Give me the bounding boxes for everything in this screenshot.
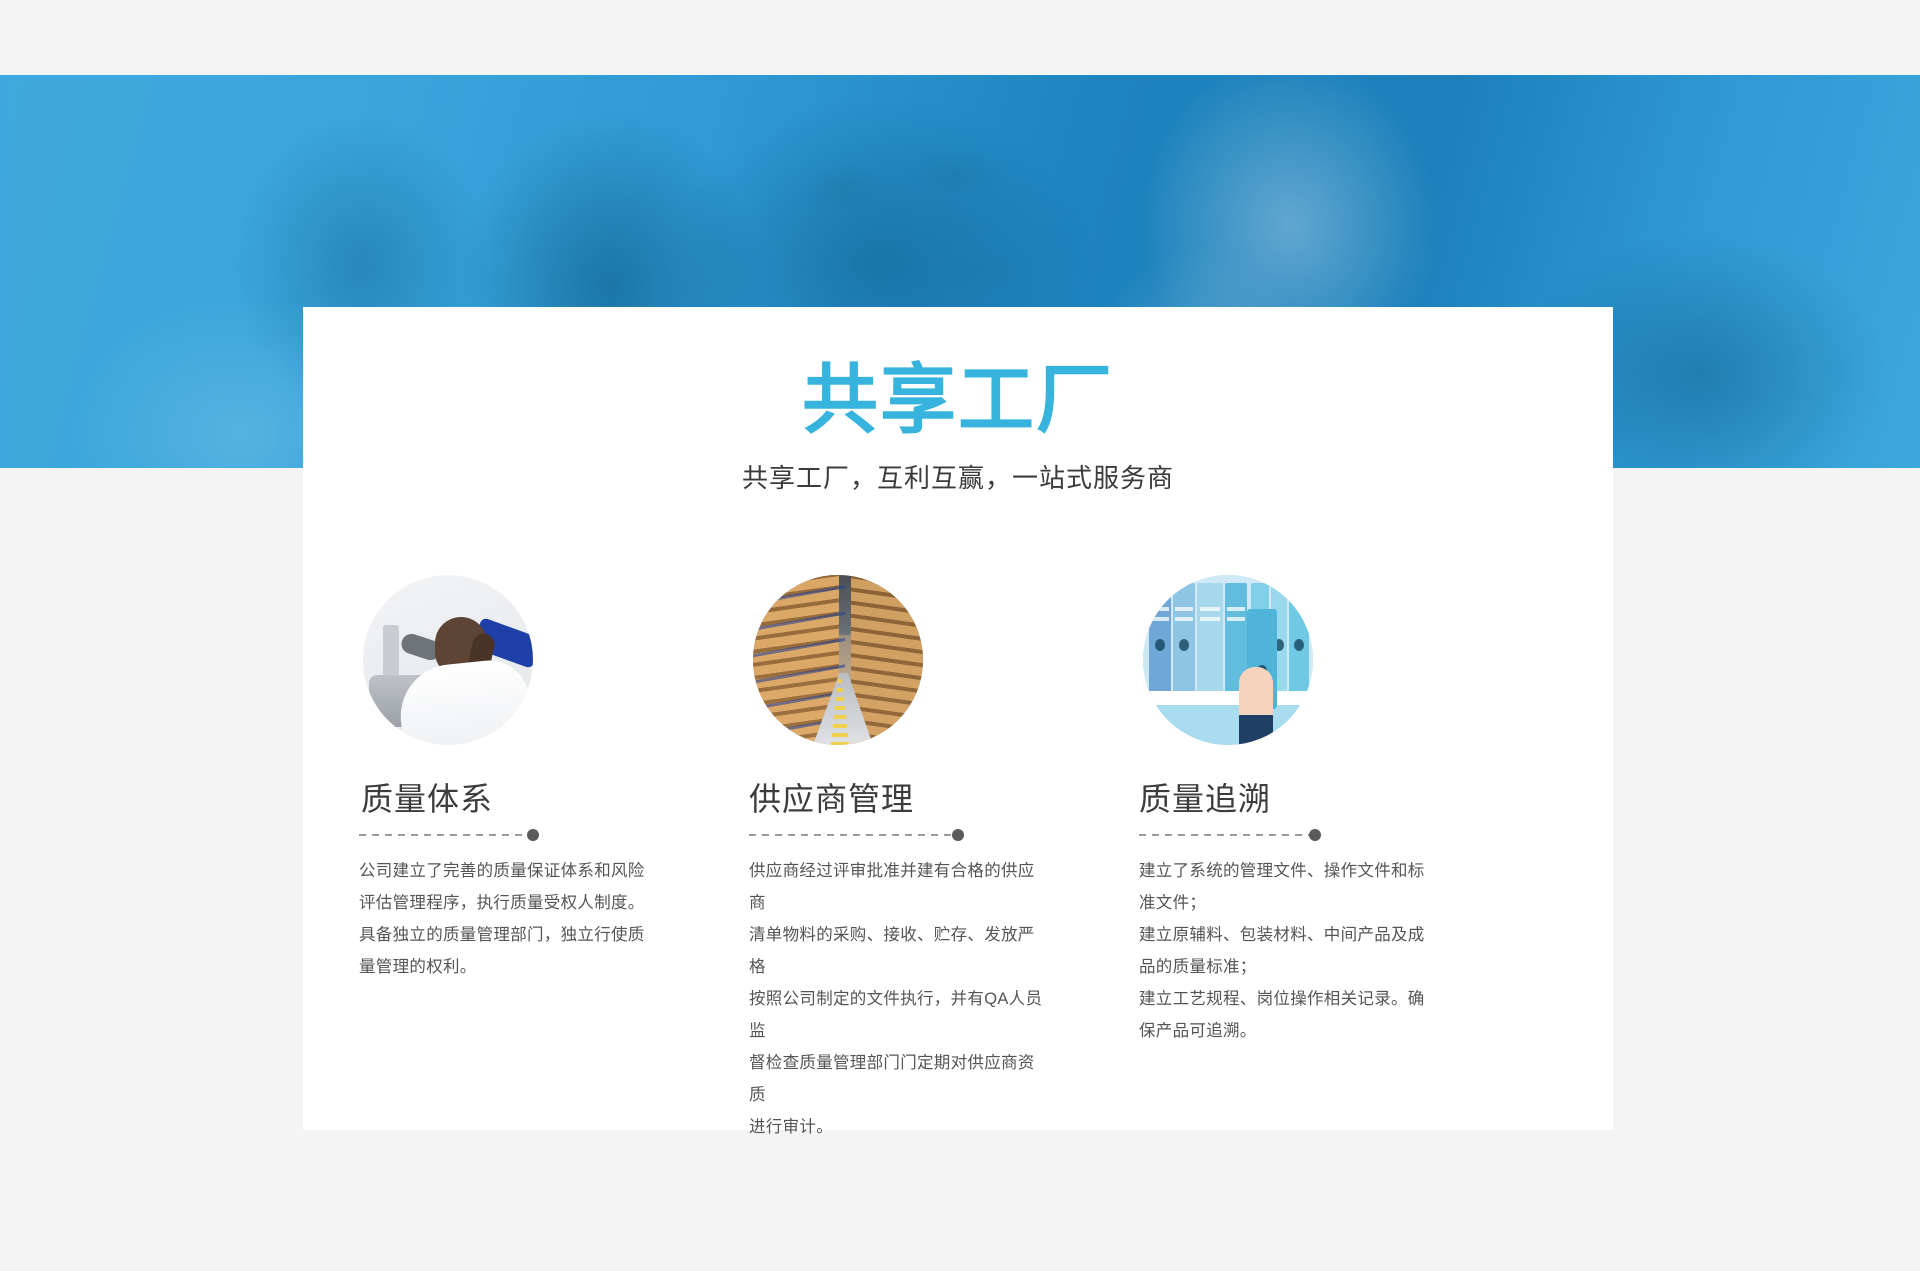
binder-band	[1151, 617, 1169, 621]
end-dot-icon	[1309, 829, 1321, 841]
feature-title: 质量体系	[359, 745, 689, 819]
page-title: 共享工厂	[303, 307, 1613, 443]
title-underline	[359, 829, 689, 841]
title-underline	[1139, 829, 1469, 841]
lab-microscope-photo	[363, 575, 533, 745]
feature-title: 质量追溯	[1139, 745, 1469, 819]
end-dot-icon	[952, 829, 964, 841]
binder-band	[1227, 607, 1245, 611]
page-subtitle: 共享工厂，互利互赢，一站式服务商	[303, 443, 1613, 495]
feature-column-quality-traceability: 质量追溯 建立了系统的管理文件、操作文件和标 准文件； 建立原辅料、包装材料、中…	[1139, 575, 1469, 1143]
feature-body: 建立了系统的管理文件、操作文件和标 准文件； 建立原辅料、包装材料、中间产品及成…	[1139, 841, 1439, 1047]
lab-coat-icon	[396, 657, 533, 745]
shelf-icon	[1143, 691, 1313, 705]
title-underline	[749, 829, 1079, 841]
dashed-line	[359, 834, 529, 836]
warehouse-aisle-photo	[753, 575, 923, 745]
feature-title: 供应商管理	[749, 745, 1079, 819]
binder-band	[1227, 617, 1245, 621]
feature-column-quality-system: 质量体系 公司建立了完善的质量保证体系和风险 评估管理程序，执行质量受权人制度。…	[359, 575, 689, 1143]
dashed-line	[1139, 834, 1311, 836]
shelf-shadow	[1143, 705, 1313, 745]
feature-body: 公司建立了完善的质量保证体系和风险 评估管理程序，执行质量受权人制度。 具备独立…	[359, 841, 689, 983]
binder-hole-icon	[1155, 639, 1165, 651]
binder-hole-icon	[1179, 639, 1189, 651]
binder-icon	[1197, 583, 1223, 695]
content-card: 共享工厂 共享工厂，互利互赢，一站式服务商 质量体系 公司建立了完善的质量保证体…	[303, 307, 1613, 1130]
binder-band	[1151, 607, 1169, 611]
binder-band	[1175, 607, 1193, 611]
end-dot-icon	[527, 829, 539, 841]
binder-band	[1200, 607, 1221, 611]
binder-band	[1175, 617, 1193, 621]
feature-columns: 质量体系 公司建立了完善的质量保证体系和风险 评估管理程序，执行质量受权人制度。…	[303, 575, 1613, 1143]
feature-body: 供应商经过评审批准并建有合格的供应商 清单物料的采购、接收、贮存、发放严格 按照…	[749, 841, 1049, 1143]
dashed-line	[749, 834, 954, 836]
binder-band	[1200, 617, 1221, 621]
binder-icon	[1149, 583, 1171, 695]
binder-icon	[1173, 583, 1195, 695]
document-binders-illustration	[1143, 575, 1313, 745]
sleeve-icon	[1239, 715, 1273, 745]
feature-column-supplier-management: 供应商管理 供应商经过评审批准并建有合格的供应商 清单物料的采购、接收、贮存、发…	[749, 575, 1079, 1143]
binder-hole-icon	[1294, 639, 1304, 651]
binder-icon	[1289, 583, 1309, 695]
